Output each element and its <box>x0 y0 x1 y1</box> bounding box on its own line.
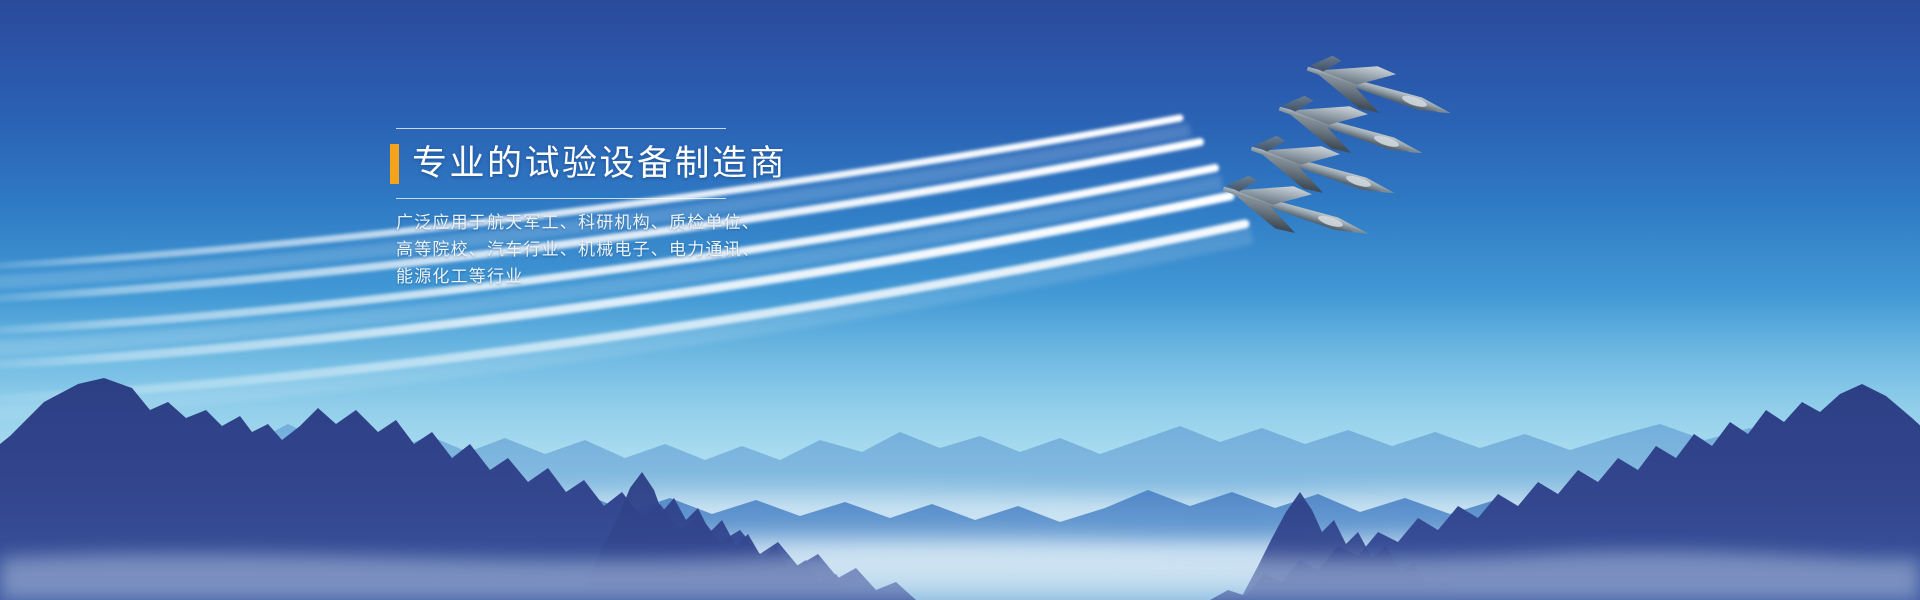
mountain-range <box>0 340 1920 600</box>
page-title: 专业的试验设备制造商 <box>412 144 787 184</box>
hero-subtitle: 广泛应用于航天军工、科研机构、质检单位、 高等院校、汽车行业、机械电子、电力通讯… <box>396 210 810 291</box>
horizon-haze <box>0 300 1920 600</box>
mountain-layer-near-left <box>0 378 916 600</box>
mist-veil-foreground <box>0 551 1920 600</box>
subtitle-line-3: 能源化工等行业 <box>396 264 810 291</box>
hero-banner: 专业的试验设备制造商 广泛应用于航天军工、科研机构、质检单位、 高等院校、汽车行… <box>0 0 1920 600</box>
jet-2 <box>1245 126 1402 216</box>
subtitle-line-2: 高等院校、汽车行业、机械电子、电力通讯、 <box>396 237 810 264</box>
mountain-layer-far <box>0 424 1920 600</box>
jet-3 <box>1273 86 1430 176</box>
fighter-jet-formation-icon <box>1120 40 1520 280</box>
jet-4 <box>1301 46 1458 136</box>
mountain-peak-right <box>1240 492 1460 600</box>
mist-band-far <box>0 481 1920 560</box>
jet-1 <box>1217 166 1376 257</box>
accent-bar <box>390 144 399 184</box>
divider-top <box>396 128 726 129</box>
contrail-group <box>0 0 1920 600</box>
mountain-layer-near-right <box>1210 384 1920 600</box>
divider-bottom <box>396 198 726 199</box>
headline-row: 专业的试验设备制造商 <box>390 138 810 190</box>
mountain-layer-mid <box>0 472 1920 600</box>
subtitle-line-1: 广泛应用于航天军工、科研机构、质检单位、 <box>396 210 810 237</box>
mist-band-near <box>0 527 1920 590</box>
hero-text-block: 专业的试验设备制造商 广泛应用于航天军工、科研机构、质检单位、 高等院校、汽车行… <box>390 128 810 291</box>
mountain-peak-cluster <box>580 472 884 600</box>
